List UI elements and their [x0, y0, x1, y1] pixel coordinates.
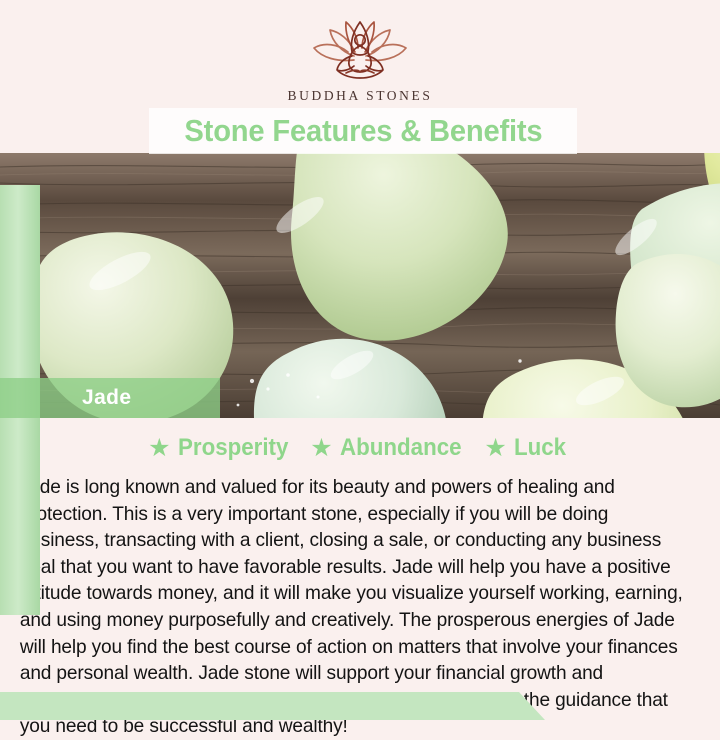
- lotus-meditation-figure-icon: [294, 16, 426, 82]
- benefits-row: ★ Prosperity ★ Abundance ★ Luck: [10, 428, 708, 468]
- photo-caption-label: Jade: [82, 386, 131, 410]
- brand-logo: BUDDHA STONES: [0, 16, 720, 104]
- benefit-label: Prosperity: [178, 434, 288, 462]
- page-title: Stone Features & Benefits: [184, 113, 542, 149]
- title-plaque: Stone Features & Benefits: [149, 108, 577, 154]
- benefit-label: Luck: [514, 434, 566, 462]
- benefit-item: ★ Prosperity: [148, 434, 296, 462]
- star-icon: ★: [484, 436, 506, 461]
- content-area: ★ Prosperity ★ Abundance ★ Luck Jade is …: [0, 418, 720, 720]
- photo-caption-banner: Jade: [0, 378, 220, 418]
- benefit-label: Abundance: [340, 434, 462, 462]
- star-icon: ★: [310, 436, 332, 461]
- benefit-item: ★ Luck: [484, 434, 569, 462]
- brand-name: BUDDHA STONES: [288, 88, 433, 104]
- frame-accent-bottom: [0, 692, 545, 720]
- benefit-item: ★ Abundance: [310, 434, 470, 462]
- star-icon: ★: [148, 436, 170, 461]
